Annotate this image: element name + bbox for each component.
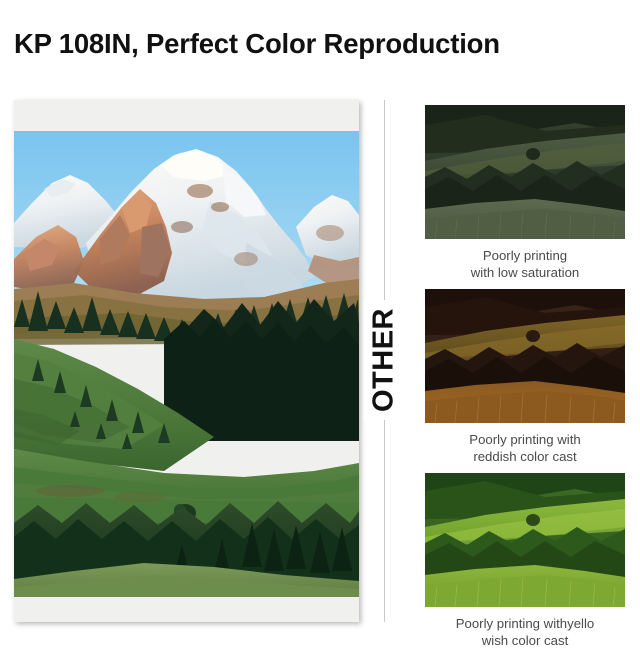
thumbnail-caption-low-saturation: Poorly printing with low saturation	[425, 247, 625, 282]
caption-line-2: wish color cast	[425, 632, 625, 649]
poster-root: KP 108IN, Perfect Color Reproduction	[0, 0, 640, 640]
comparison-thumbnail-list: Poorly printing with low saturation	[425, 105, 625, 657]
caption-line-1: Poorly printing with	[469, 432, 580, 447]
thumbnail-caption-yellowish-cast: Poorly printing withyello wish color cas…	[425, 615, 625, 650]
hero-photo-frame	[14, 100, 359, 622]
caption-line-2: reddish color cast	[425, 448, 625, 465]
comparison-item-reddish-cast: Poorly printing with reddish color cast	[425, 289, 625, 466]
caption-line-2: with low saturation	[425, 264, 625, 281]
other-section-label: OTHER	[364, 300, 405, 420]
comparison-item-yellowish-cast: Poorly printing withyello wish color cas…	[425, 473, 625, 650]
page-title: KP 108IN, Perfect Color Reproduction	[14, 28, 500, 60]
caption-line-1: Poorly printing withyello	[456, 616, 595, 631]
thumbnail-image-reddish-cast	[425, 289, 625, 423]
comparison-item-low-saturation: Poorly printing with low saturation	[425, 105, 625, 282]
thumbnail-image-low-saturation	[425, 105, 625, 239]
hero-photo-image	[14, 131, 359, 597]
caption-line-1: Poorly printing	[483, 248, 567, 263]
thumbnail-caption-reddish-cast: Poorly printing with reddish color cast	[425, 431, 625, 466]
thumbnail-image-yellowish-cast	[425, 473, 625, 607]
